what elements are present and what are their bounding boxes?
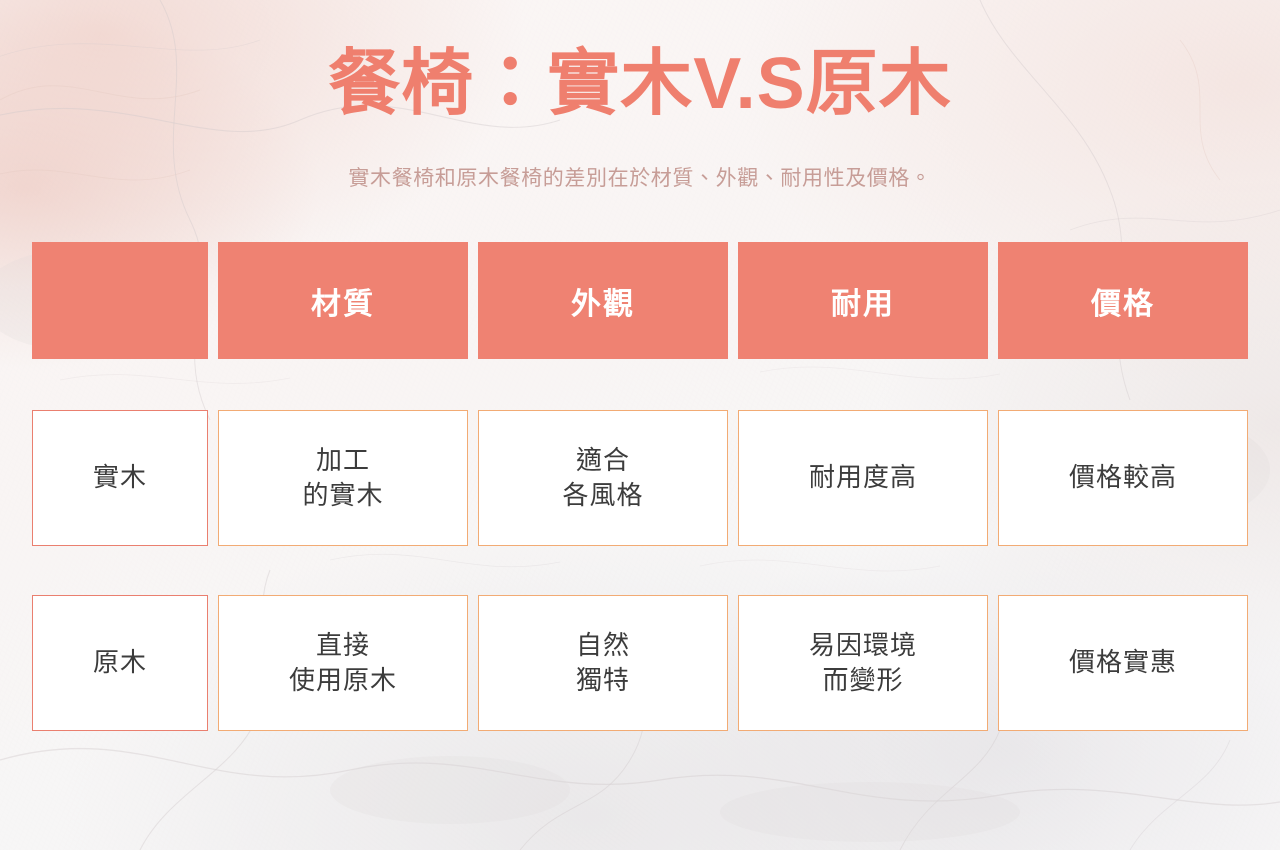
cell-line: 使用原木 [289,663,397,698]
cell-raw-wood-appearance: 自然 獨特 [478,595,728,731]
cell-line: 直接 [289,628,397,663]
cell-line: 價格實惠 [1069,645,1177,680]
table-row: 原木 直接 使用原木 自然 獨特 易因環境 而變形 [32,595,1248,731]
cell-line: 的實木 [302,478,383,513]
infographic-page: 餐椅：實木V.S原木 實木餐椅和原木餐椅的差別在於材質、外觀、耐用性及價格。 材… [0,0,1280,850]
page-subtitle: 實木餐椅和原木餐椅的差別在於材質、外觀、耐用性及價格。 [0,166,1280,191]
table-row: 實木 加工 的實木 適合 各風格 耐用度高 [32,410,1248,546]
cell-line: 各風格 [562,478,643,513]
cell-solid-wood-material: 加工 的實木 [218,410,468,546]
cell-line: 加工 [302,443,383,478]
cell-line: 獨特 [576,663,630,698]
page-title: 餐椅：實木V.S原木 [0,48,1280,120]
cell-line: 適合 [562,443,643,478]
cell-raw-wood-durability: 易因環境 而變形 [738,595,988,731]
header-cell-durability: 耐用 [738,242,988,359]
row-label-raw-wood: 原木 [32,595,208,731]
cell-solid-wood-durability: 耐用度高 [738,410,988,546]
cell-solid-wood-price: 價格較高 [998,410,1248,546]
header-cell-price: 價格 [998,242,1248,359]
cell-raw-wood-price: 價格實惠 [998,595,1248,731]
cell-line: 價格較高 [1069,460,1177,495]
cell-solid-wood-appearance: 適合 各風格 [478,410,728,546]
header-cell-material: 材質 [218,242,468,359]
cell-line: 耐用度高 [809,460,917,495]
header-cell-appearance: 外觀 [478,242,728,359]
cell-line: 自然 [576,628,630,663]
comparison-table: 材質 外觀 耐用 價格 實木 加工 的實木 適合 各風格 [32,242,1248,731]
header-cell-corner [32,242,208,359]
infographic-content: 餐椅：實木V.S原木 實木餐椅和原木餐椅的差別在於材質、外觀、耐用性及價格。 材… [0,0,1280,850]
cell-raw-wood-material: 直接 使用原木 [218,595,468,731]
table-header-row: 材質 外觀 耐用 價格 [32,242,1248,359]
row-label-solid-wood: 實木 [32,410,208,546]
cell-line: 易因環境 [809,628,917,663]
cell-line: 而變形 [809,663,917,698]
